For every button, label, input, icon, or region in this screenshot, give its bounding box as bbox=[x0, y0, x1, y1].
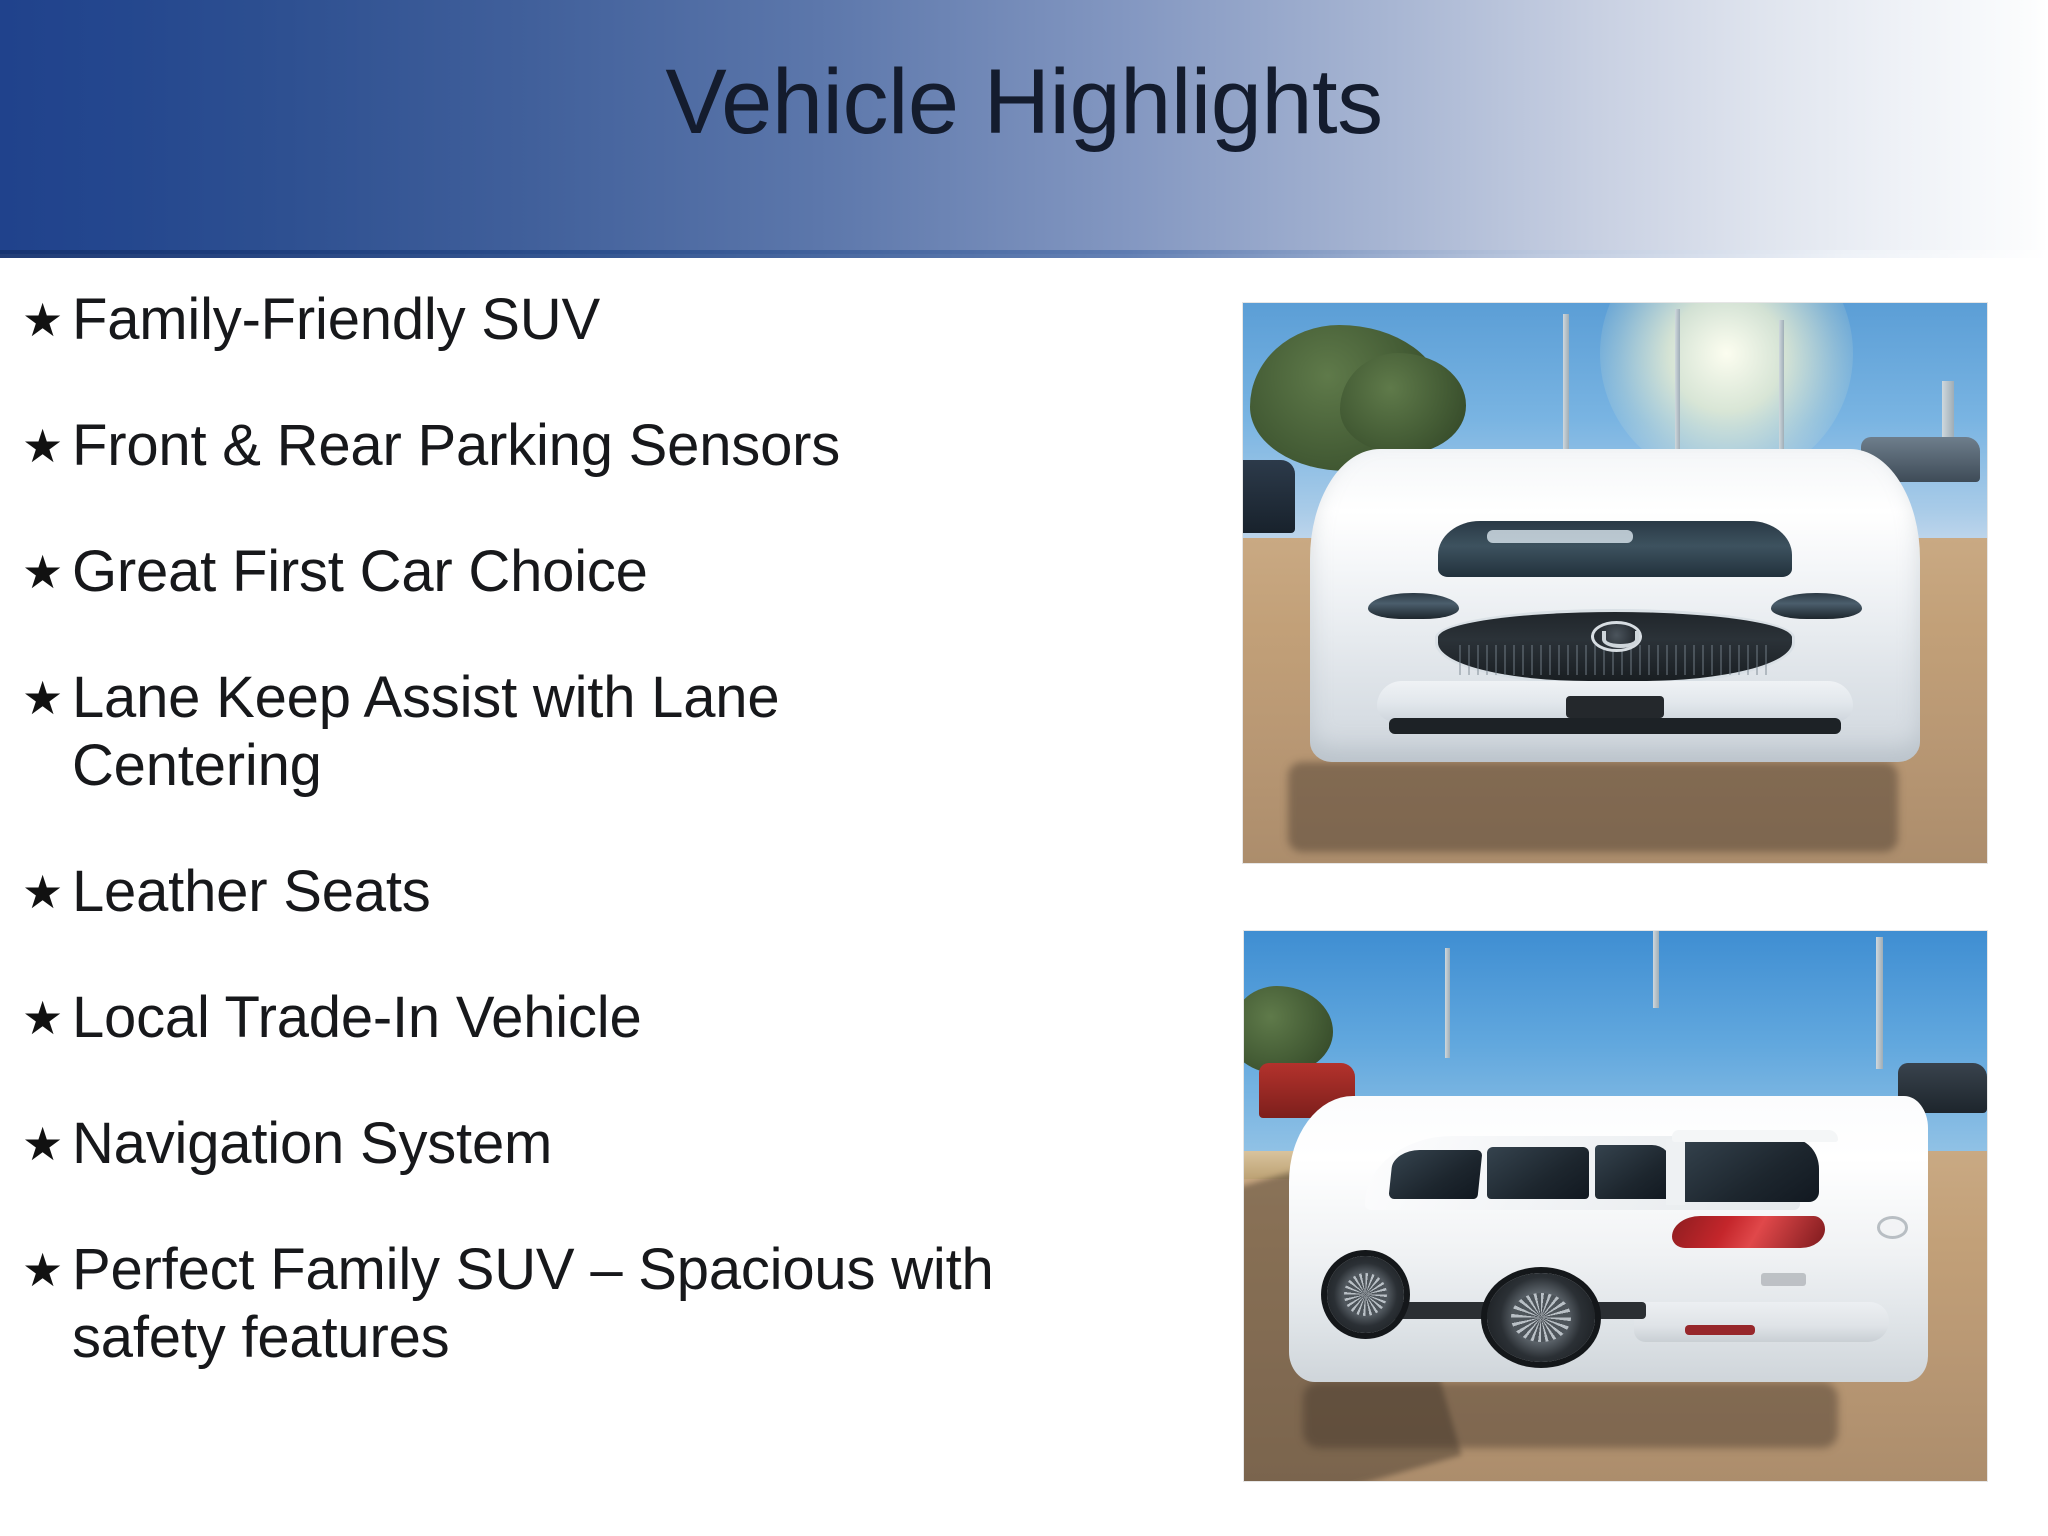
vehicle-body-rear bbox=[1289, 1096, 1928, 1382]
rear-door-window bbox=[1487, 1147, 1589, 1198]
front-door-window bbox=[1388, 1150, 1483, 1199]
highlight-item-label: Great First Car Choice bbox=[72, 538, 1002, 606]
front-wheel bbox=[1327, 1256, 1404, 1333]
taillight bbox=[1672, 1216, 1825, 1247]
roof-spoiler bbox=[1672, 1130, 1838, 1141]
star-bullet-icon: ★ bbox=[18, 984, 72, 1052]
mazda-logo-icon bbox=[1591, 621, 1643, 652]
cx5-badge bbox=[1761, 1273, 1806, 1286]
rear-bumper bbox=[1634, 1302, 1890, 1342]
light-pole bbox=[1675, 309, 1681, 455]
vehicle-photo-front bbox=[1242, 302, 1988, 864]
d-pillar bbox=[1666, 1139, 1685, 1205]
vehicle-body-front bbox=[1310, 449, 1920, 763]
vehicle-highlights-list: ★ Family-Friendly SUV ★ Front & Rear Par… bbox=[0, 286, 1160, 1526]
light-pole bbox=[1563, 314, 1569, 454]
license-plate-holder bbox=[1566, 696, 1664, 718]
star-bullet-icon: ★ bbox=[18, 858, 72, 926]
star-bullet-icon: ★ bbox=[18, 664, 72, 732]
rear-hatch-glass bbox=[1678, 1139, 1819, 1202]
highlight-item-label: Family-Friendly SUV bbox=[72, 286, 1002, 354]
highlight-item: ★ Front & Rear Parking Sensors bbox=[18, 412, 1160, 480]
light-pole bbox=[1653, 931, 1659, 1008]
tree bbox=[1340, 353, 1466, 454]
vehicle-photo-rear bbox=[1243, 930, 1988, 1482]
highlight-item: ★ Local Trade-In Vehicle bbox=[18, 984, 1160, 1052]
quarter-window bbox=[1595, 1145, 1672, 1199]
mazda-logo-icon bbox=[1877, 1216, 1909, 1239]
windshield-glare bbox=[1487, 530, 1633, 543]
star-bullet-icon: ★ bbox=[18, 538, 72, 606]
highlight-item-label: Lane Keep Assist with Lane Centering bbox=[72, 664, 1002, 800]
wheel-spokes bbox=[1511, 1293, 1572, 1343]
star-bullet-icon: ★ bbox=[18, 286, 72, 354]
vehicle-shadow bbox=[1288, 762, 1898, 852]
light-pole bbox=[1876, 937, 1883, 1069]
highlight-item-label: Front & Rear Parking Sensors bbox=[72, 412, 1002, 480]
star-bullet-icon: ★ bbox=[18, 1236, 72, 1304]
header-underline-accent bbox=[0, 250, 2048, 258]
highlight-item: ★ Lane Keep Assist with Lane Centering bbox=[18, 664, 1160, 800]
highlight-item: ★ Family-Friendly SUV bbox=[18, 286, 1160, 354]
light-pole bbox=[1779, 320, 1784, 454]
rear-wheel bbox=[1487, 1273, 1596, 1362]
highlight-item: ★ Navigation System bbox=[18, 1110, 1160, 1178]
background-vehicle bbox=[1242, 460, 1295, 533]
light-pole bbox=[1445, 948, 1450, 1058]
rear-photo-scene bbox=[1244, 931, 1987, 1481]
vehicle-shadow bbox=[1303, 1382, 1838, 1448]
wheel-spokes bbox=[1344, 1273, 1387, 1316]
highlight-item: ★ Perfect Family SUV – Spacious with saf… bbox=[18, 1236, 1160, 1372]
highlight-item-label: Leather Seats bbox=[72, 858, 1002, 926]
highlight-item-label: Navigation System bbox=[72, 1110, 1002, 1178]
front-lower-lip bbox=[1389, 718, 1840, 734]
rear-reflector bbox=[1685, 1325, 1755, 1335]
highlight-item: ★ Great First Car Choice bbox=[18, 538, 1160, 606]
star-bullet-icon: ★ bbox=[18, 1110, 72, 1178]
headlight-right bbox=[1771, 593, 1863, 620]
star-bullet-icon: ★ bbox=[18, 412, 72, 480]
highlight-item: ★ Leather Seats bbox=[18, 858, 1160, 926]
highlight-item-label: Local Trade-In Vehicle bbox=[72, 984, 1002, 1052]
page-title: Vehicle Highlights bbox=[0, 50, 2048, 154]
highlight-item-label: Perfect Family SUV – Spacious with safet… bbox=[72, 1236, 1002, 1372]
headlight-left bbox=[1368, 593, 1460, 620]
front-photo-scene bbox=[1243, 303, 1987, 863]
